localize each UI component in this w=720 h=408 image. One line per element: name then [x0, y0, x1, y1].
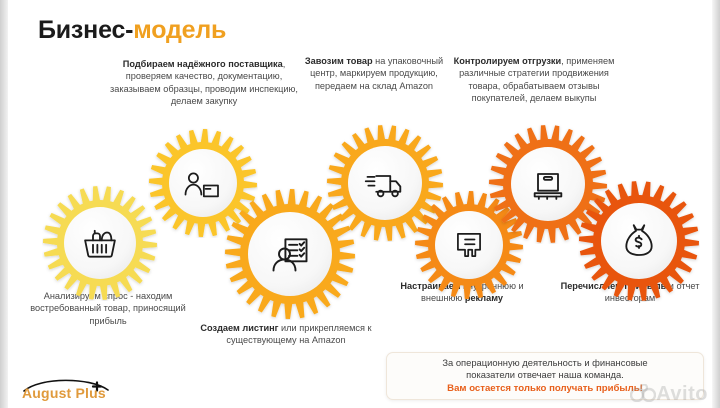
slide-left-edge [0, 0, 8, 408]
note-line-3-highlight: Вам остается только получать прибыль! [447, 382, 643, 395]
watermark: Avito [630, 383, 708, 406]
watermark-text: Avito [656, 383, 708, 405]
page-title: Бизнес-модель [38, 16, 226, 45]
logo[interactable]: August Plus [18, 378, 146, 404]
gear-step-7[interactable] [578, 180, 700, 302]
caption-step-4: Завозим товар на упаковочный центр, марк… [300, 55, 448, 92]
note-line-2: показатели отвечает наша команда. [466, 369, 624, 381]
avito-dots-icon [630, 384, 656, 402]
presentation-slide: Бизнес-модель Подбираем надёжного постав… [8, 0, 712, 408]
caption-step-4-bold: Завозим товар [305, 56, 373, 66]
caption-step-6-bold: Контролируем отгрузки [454, 56, 562, 66]
logo-text: August Plus [22, 385, 106, 401]
slide-right-edge [712, 0, 720, 408]
caption-step-6: Контролируем отгрузки, применяем различн… [450, 55, 618, 104]
gear-step-1[interactable] [42, 185, 158, 301]
caption-step-2: Подбираем надёжного поставщика, проверяе… [108, 58, 300, 107]
page-title-plain: Бизнес- [38, 16, 133, 44]
page-title-accent: модель [133, 16, 226, 44]
caption-step-3-bold: Создаем листинг [200, 323, 278, 333]
caption-step-3: Создаем листинг или прикрепляемся к суще… [196, 322, 376, 347]
caption-step-2-bold: Подбираем надёжного поставщика [123, 59, 283, 69]
note-line-1: За операционную деятельность и финансовы… [442, 357, 647, 369]
